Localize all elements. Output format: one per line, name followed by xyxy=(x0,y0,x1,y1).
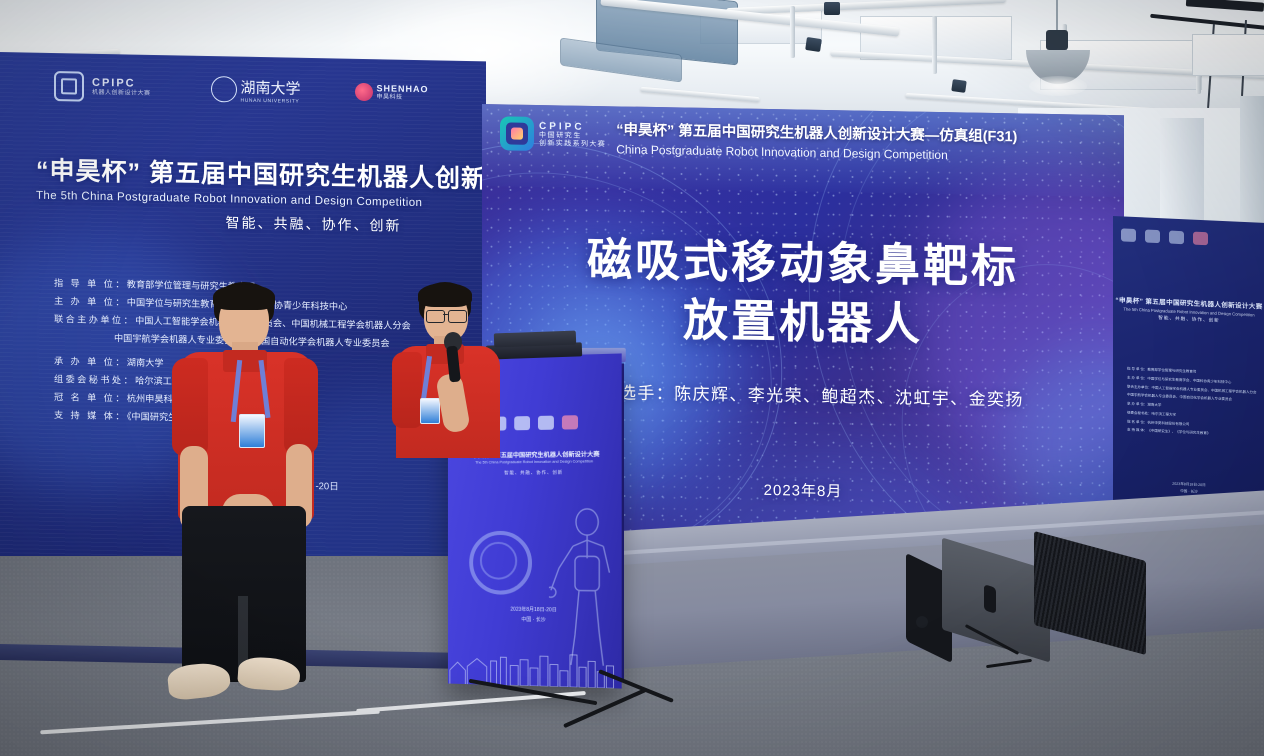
right-logo-cpipc-icon xyxy=(1121,228,1136,242)
person2-glasses-bridge-icon xyxy=(443,314,448,315)
screen-project-title-line1: 磁吸式移动象鼻靶标 xyxy=(482,228,1124,299)
ceiling-beam xyxy=(1186,0,1264,12)
person2-badge xyxy=(420,398,440,424)
spot-light-icon xyxy=(824,2,840,15)
sponsor-logo-cpipc xyxy=(54,71,84,102)
screen-brand-sub2: 创新实践系列大赛 xyxy=(539,140,606,149)
podium-gear-inner-icon xyxy=(480,542,517,580)
hunan-university-seal-icon xyxy=(211,76,237,102)
right-logo-cpipc2-icon xyxy=(1145,229,1160,243)
podium-date: 2023年8月18日-20日 中国 · 长沙 xyxy=(448,605,622,627)
info-label-7: 支 持 媒 体： xyxy=(54,410,127,421)
sponsor-sub-cpipc: 机器人创新设计大赛 xyxy=(92,89,151,96)
person1-sleeve-left xyxy=(172,358,208,456)
person2-glasses-right-icon xyxy=(448,310,467,323)
info-label-0: 指 导 单 位： xyxy=(54,278,127,289)
info-label-2: 联合主办单位： xyxy=(54,314,135,326)
pendant-lamp-rod xyxy=(1056,0,1058,32)
screen-project-title: 磁吸式移动象鼻靶标 放置机器人 xyxy=(482,228,1124,358)
info-label-5: 组委会秘书处： xyxy=(54,374,135,386)
podium-title-en: The 5th China Postgraduate Robot Innovat… xyxy=(448,459,622,465)
backdrop-right-info: 指 导 单 位：教育部学位管理与研究生教育司 主 办 单 位：中国学位与研究生教… xyxy=(1127,365,1257,441)
info-value-4: 湖南大学 xyxy=(127,357,164,368)
backdrop-right-logos xyxy=(1121,228,1208,245)
sponsor-logo-cpipc-text: CPIPC 机器人创新设计大赛 xyxy=(92,78,151,97)
backdrop-right-title: “申昊杯” 第五届中国研究生机器人创新设计大赛 The 5th China Po… xyxy=(1113,294,1264,325)
screen-brand-badge: CPIPC 中国研究生 创新实践系列大赛 xyxy=(500,116,606,152)
sponsor-logo-shenhao: SHENHAO 申昊科技 xyxy=(355,83,429,102)
podium-logo-shenhao-icon xyxy=(561,415,577,429)
shenhao-mark-icon xyxy=(355,83,373,101)
podium-logo-hunan-icon xyxy=(537,416,553,430)
info-label-1: 主 办 单 位： xyxy=(54,296,127,307)
person2-glasses-icon xyxy=(426,310,445,323)
podium-logo-cpipc-b-icon xyxy=(514,416,530,430)
backdrop-left-title: “申昊杯” 第五届中国研究生机器人创新设计大赛 The 5th China Po… xyxy=(36,151,486,240)
sponsor-sub-shenhao: 申昊科技 xyxy=(377,94,429,101)
right-logo-hunan-icon xyxy=(1169,231,1184,245)
backdrop-left-slogan: 智能、共融、协作、创新 xyxy=(36,209,486,240)
pendant-lamp-glow xyxy=(1029,76,1087,96)
podium-place-line: 中国 · 长沙 xyxy=(448,614,622,627)
sponsor-logo-hunan-university: 湖南大学 HUNAN UNIVERSITY xyxy=(211,76,301,105)
laptop-screen xyxy=(494,331,576,348)
person1-sleeve-right xyxy=(284,358,318,454)
sponsor-name-hunan: 湖南大学 xyxy=(241,76,301,98)
person2-sleeve-left xyxy=(392,352,422,428)
cpipc-logo-icon xyxy=(500,116,534,151)
info-label-4: 承 办 单 位： xyxy=(54,356,127,367)
right-logo-shenhao-icon xyxy=(1193,232,1208,246)
podium-slogan: 智能、共融、协作、创新 xyxy=(448,469,622,476)
pendant-lamp-cap xyxy=(1046,30,1068,50)
cpipc-mark-icon xyxy=(54,71,84,102)
person1-badge xyxy=(239,414,265,448)
screen-brand-name: CPIPC xyxy=(539,121,606,133)
backdrop-left-sponsor-logos: CPIPC 机器人创新设计大赛 湖南大学 HUNAN UNIVERSITY SH… xyxy=(54,71,429,108)
info-value-2: 中国人工智能学会机器人专业委员会、中国机械工程学会机器人分会 xyxy=(135,315,411,330)
ceiling-pipe xyxy=(726,0,1006,15)
sponsor-sub-hunan: HUNAN UNIVERSITY xyxy=(241,97,301,104)
info-label-6: 冠 名 单 位： xyxy=(54,392,127,403)
screenshot-root: CPIPC 机器人创新设计大赛 湖南大学 HUNAN UNIVERSITY SH… xyxy=(0,0,1264,756)
